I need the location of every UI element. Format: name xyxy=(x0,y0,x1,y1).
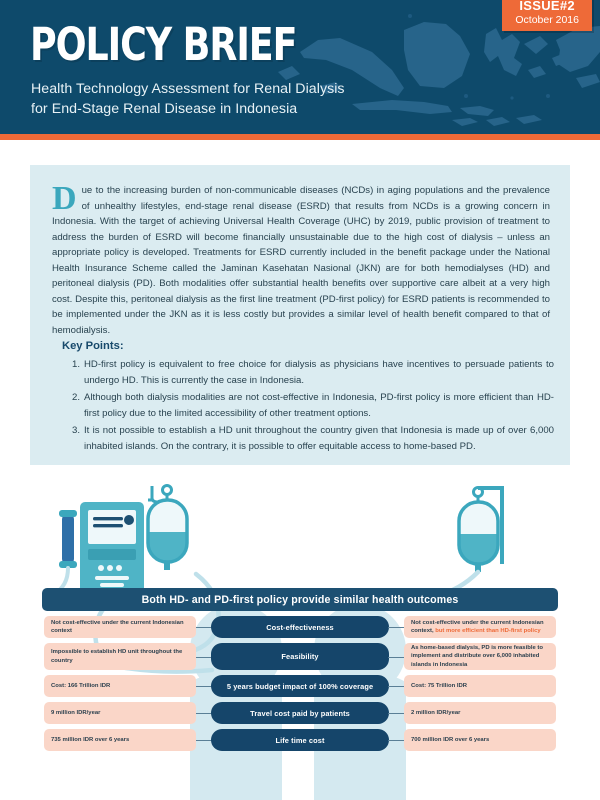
pd-value-cell: Not cost-effective under the current Ind… xyxy=(404,616,556,638)
subtitle-line-1: Health Technology Assessment for Renal D… xyxy=(31,79,345,99)
criterion-label: Feasibility xyxy=(211,643,389,670)
connector-line xyxy=(196,627,212,628)
connector-line xyxy=(196,686,212,687)
hd-value-cell: 9 million IDR/year xyxy=(44,702,196,724)
key-points-list: 1. HD-first policy is equivalent to free… xyxy=(62,357,554,456)
subtitle-line-2: for End-Stage Renal Disease in Indonesia xyxy=(31,99,345,119)
intro-paragraph-text: ue to the increasing burden of non-commu… xyxy=(52,185,550,336)
hd-value-cell: Not cost-effective under the current Ind… xyxy=(44,616,196,638)
intro-paragraph: Due to the increasing burden of non-comm… xyxy=(52,183,550,338)
comparison-table: Not cost-effective under the current Ind… xyxy=(0,616,600,756)
page-subtitle: Health Technology Assessment for Renal D… xyxy=(31,79,345,119)
hd-value-cell: Cost: 166 Trillion IDR xyxy=(44,675,196,697)
pd-value-cell: Cost: 75 Trillion IDR xyxy=(404,675,556,697)
connector-line xyxy=(196,740,212,741)
list-item: 1. HD-first policy is equivalent to free… xyxy=(62,357,554,388)
list-item-number: 3. xyxy=(62,423,80,439)
list-item-text: HD-first policy is equivalent to free ch… xyxy=(84,359,554,386)
hd-value-cell: Impossible to establish HD unit througho… xyxy=(44,643,196,670)
pd-value-highlight: but more efficient than HD-first policy xyxy=(434,628,541,634)
list-item-text: It is not possible to establish a HD uni… xyxy=(84,425,554,452)
key-points-heading: Key Points: xyxy=(62,340,124,352)
table-row: Impossible to establish HD unit througho… xyxy=(0,643,600,670)
list-item-number: 2. xyxy=(62,390,80,406)
pd-value-cell: 700 million IDR over 6 years xyxy=(404,729,556,751)
policy-brief-page: ISSUE#2 October 2016 POLICY BRIEF Health… xyxy=(0,0,600,800)
drop-cap: D xyxy=(52,185,77,213)
criterion-label: Cost-effectiveness xyxy=(211,616,389,638)
issue-number: ISSUE#2 xyxy=(515,0,579,14)
summary-panel: Due to the increasing burden of non-comm… xyxy=(30,165,570,465)
list-item-number: 1. xyxy=(62,357,80,373)
pd-value-cell: 2 million IDR/year xyxy=(404,702,556,724)
connector-line xyxy=(388,627,404,628)
table-row: Cost: 166 Trillion IDR 5 years budget im… xyxy=(0,675,600,697)
issue-badge: ISSUE#2 October 2016 xyxy=(502,0,592,31)
connector-line xyxy=(388,713,404,714)
issue-date: October 2016 xyxy=(515,15,579,27)
connector-line xyxy=(196,713,212,714)
pd-value-cell: As home-based dialysis, PD is more feasi… xyxy=(404,643,556,670)
table-row: 735 million IDR over 6 years Life time c… xyxy=(0,729,600,751)
list-item: 2. Although both dialysis modalities are… xyxy=(62,390,554,421)
header-divider xyxy=(0,134,600,140)
document-header: ISSUE#2 October 2016 POLICY BRIEF Health… xyxy=(0,0,600,134)
connector-line xyxy=(388,740,404,741)
connector-line xyxy=(388,657,404,658)
page-title: POLICY BRIEF xyxy=(30,18,296,71)
criterion-label: 5 years budget impact of 100% coverage xyxy=(211,675,389,697)
outcome-banner: Both HD- and PD-first policy provide sim… xyxy=(42,588,558,611)
table-row: 9 million IDR/year Travel cost paid by p… xyxy=(0,702,600,724)
list-item-text: Although both dialysis modalities are no… xyxy=(84,392,554,419)
list-item: 3. It is not possible to establish a HD … xyxy=(62,423,554,454)
hd-value-cell: 735 million IDR over 6 years xyxy=(44,729,196,751)
connector-line xyxy=(388,686,404,687)
table-row: Not cost-effective under the current Ind… xyxy=(0,616,600,638)
connector-line xyxy=(196,657,212,658)
criterion-label: Life time cost xyxy=(211,729,389,751)
criterion-label: Travel cost paid by patients xyxy=(211,702,389,724)
